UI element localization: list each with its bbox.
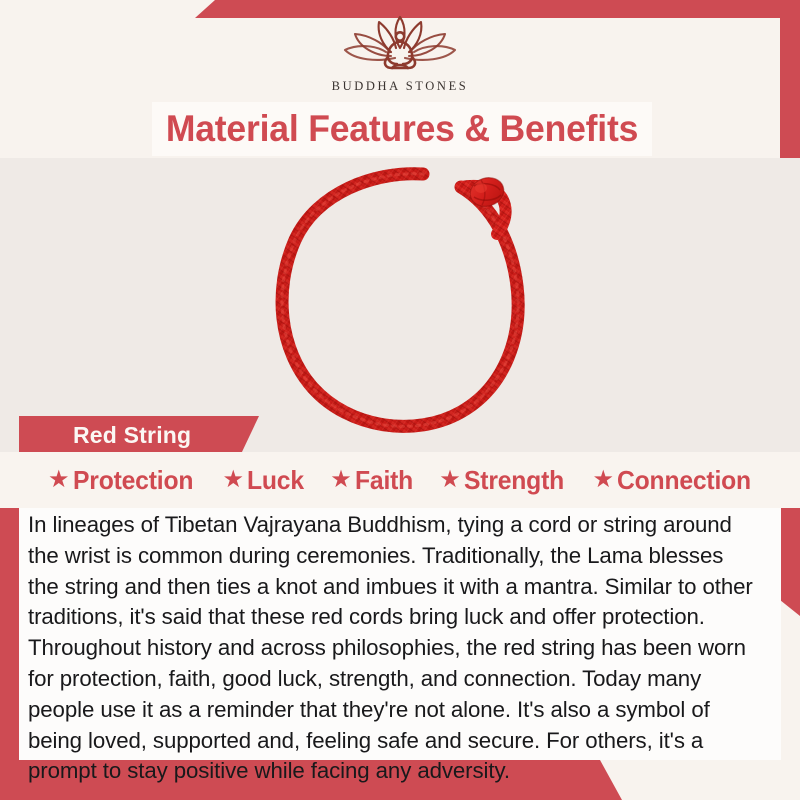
title-band: Material Features & Benefits (152, 102, 652, 156)
star-icon: ★ (439, 468, 461, 492)
product-photo-zone (0, 158, 800, 452)
star-icon: ★ (330, 468, 352, 492)
benefit-item-strength: ★ Strength (439, 465, 569, 496)
description-card: In lineages of Tibetan Vajrayana Buddhis… (19, 508, 781, 760)
benefit-item-faith: ★ Faith (330, 465, 416, 496)
red-string-bracelet-image (255, 158, 575, 452)
brand-logo: BUDDHA STONES (0, 14, 800, 94)
benefit-item-connection: ★ Connection (592, 465, 758, 496)
star-icon: ★ (222, 468, 244, 492)
benefit-label-faith: Faith (355, 465, 413, 496)
benefit-label-luck: Luck (247, 465, 304, 496)
benefits-list: ★ Protection ★ Luck ★ Faith ★ Strength ★… (28, 452, 776, 508)
infographic-poster: BUDDHA STONES Material Features & Benefi… (0, 0, 800, 800)
star-icon: ★ (48, 468, 70, 492)
material-ribbon: Red String (19, 416, 259, 454)
benefit-label-connection: Connection (617, 465, 751, 496)
benefit-label-strength: Strength (464, 465, 564, 496)
benefit-item-protection: ★ Protection (48, 465, 199, 496)
material-label: Red String (73, 422, 191, 449)
benefit-label-protection: Protection (73, 465, 193, 496)
page-title: Material Features & Benefits (166, 108, 638, 150)
benefit-item-luck: ★ Luck (222, 465, 306, 496)
brand-name: BUDDHA STONES (332, 79, 469, 94)
lotus-meditation-icon (325, 14, 475, 76)
star-icon: ★ (592, 468, 614, 492)
description-text: In lineages of Tibetan Vajrayana Buddhis… (28, 510, 760, 787)
brand-header: BUDDHA STONES (0, 0, 800, 104)
